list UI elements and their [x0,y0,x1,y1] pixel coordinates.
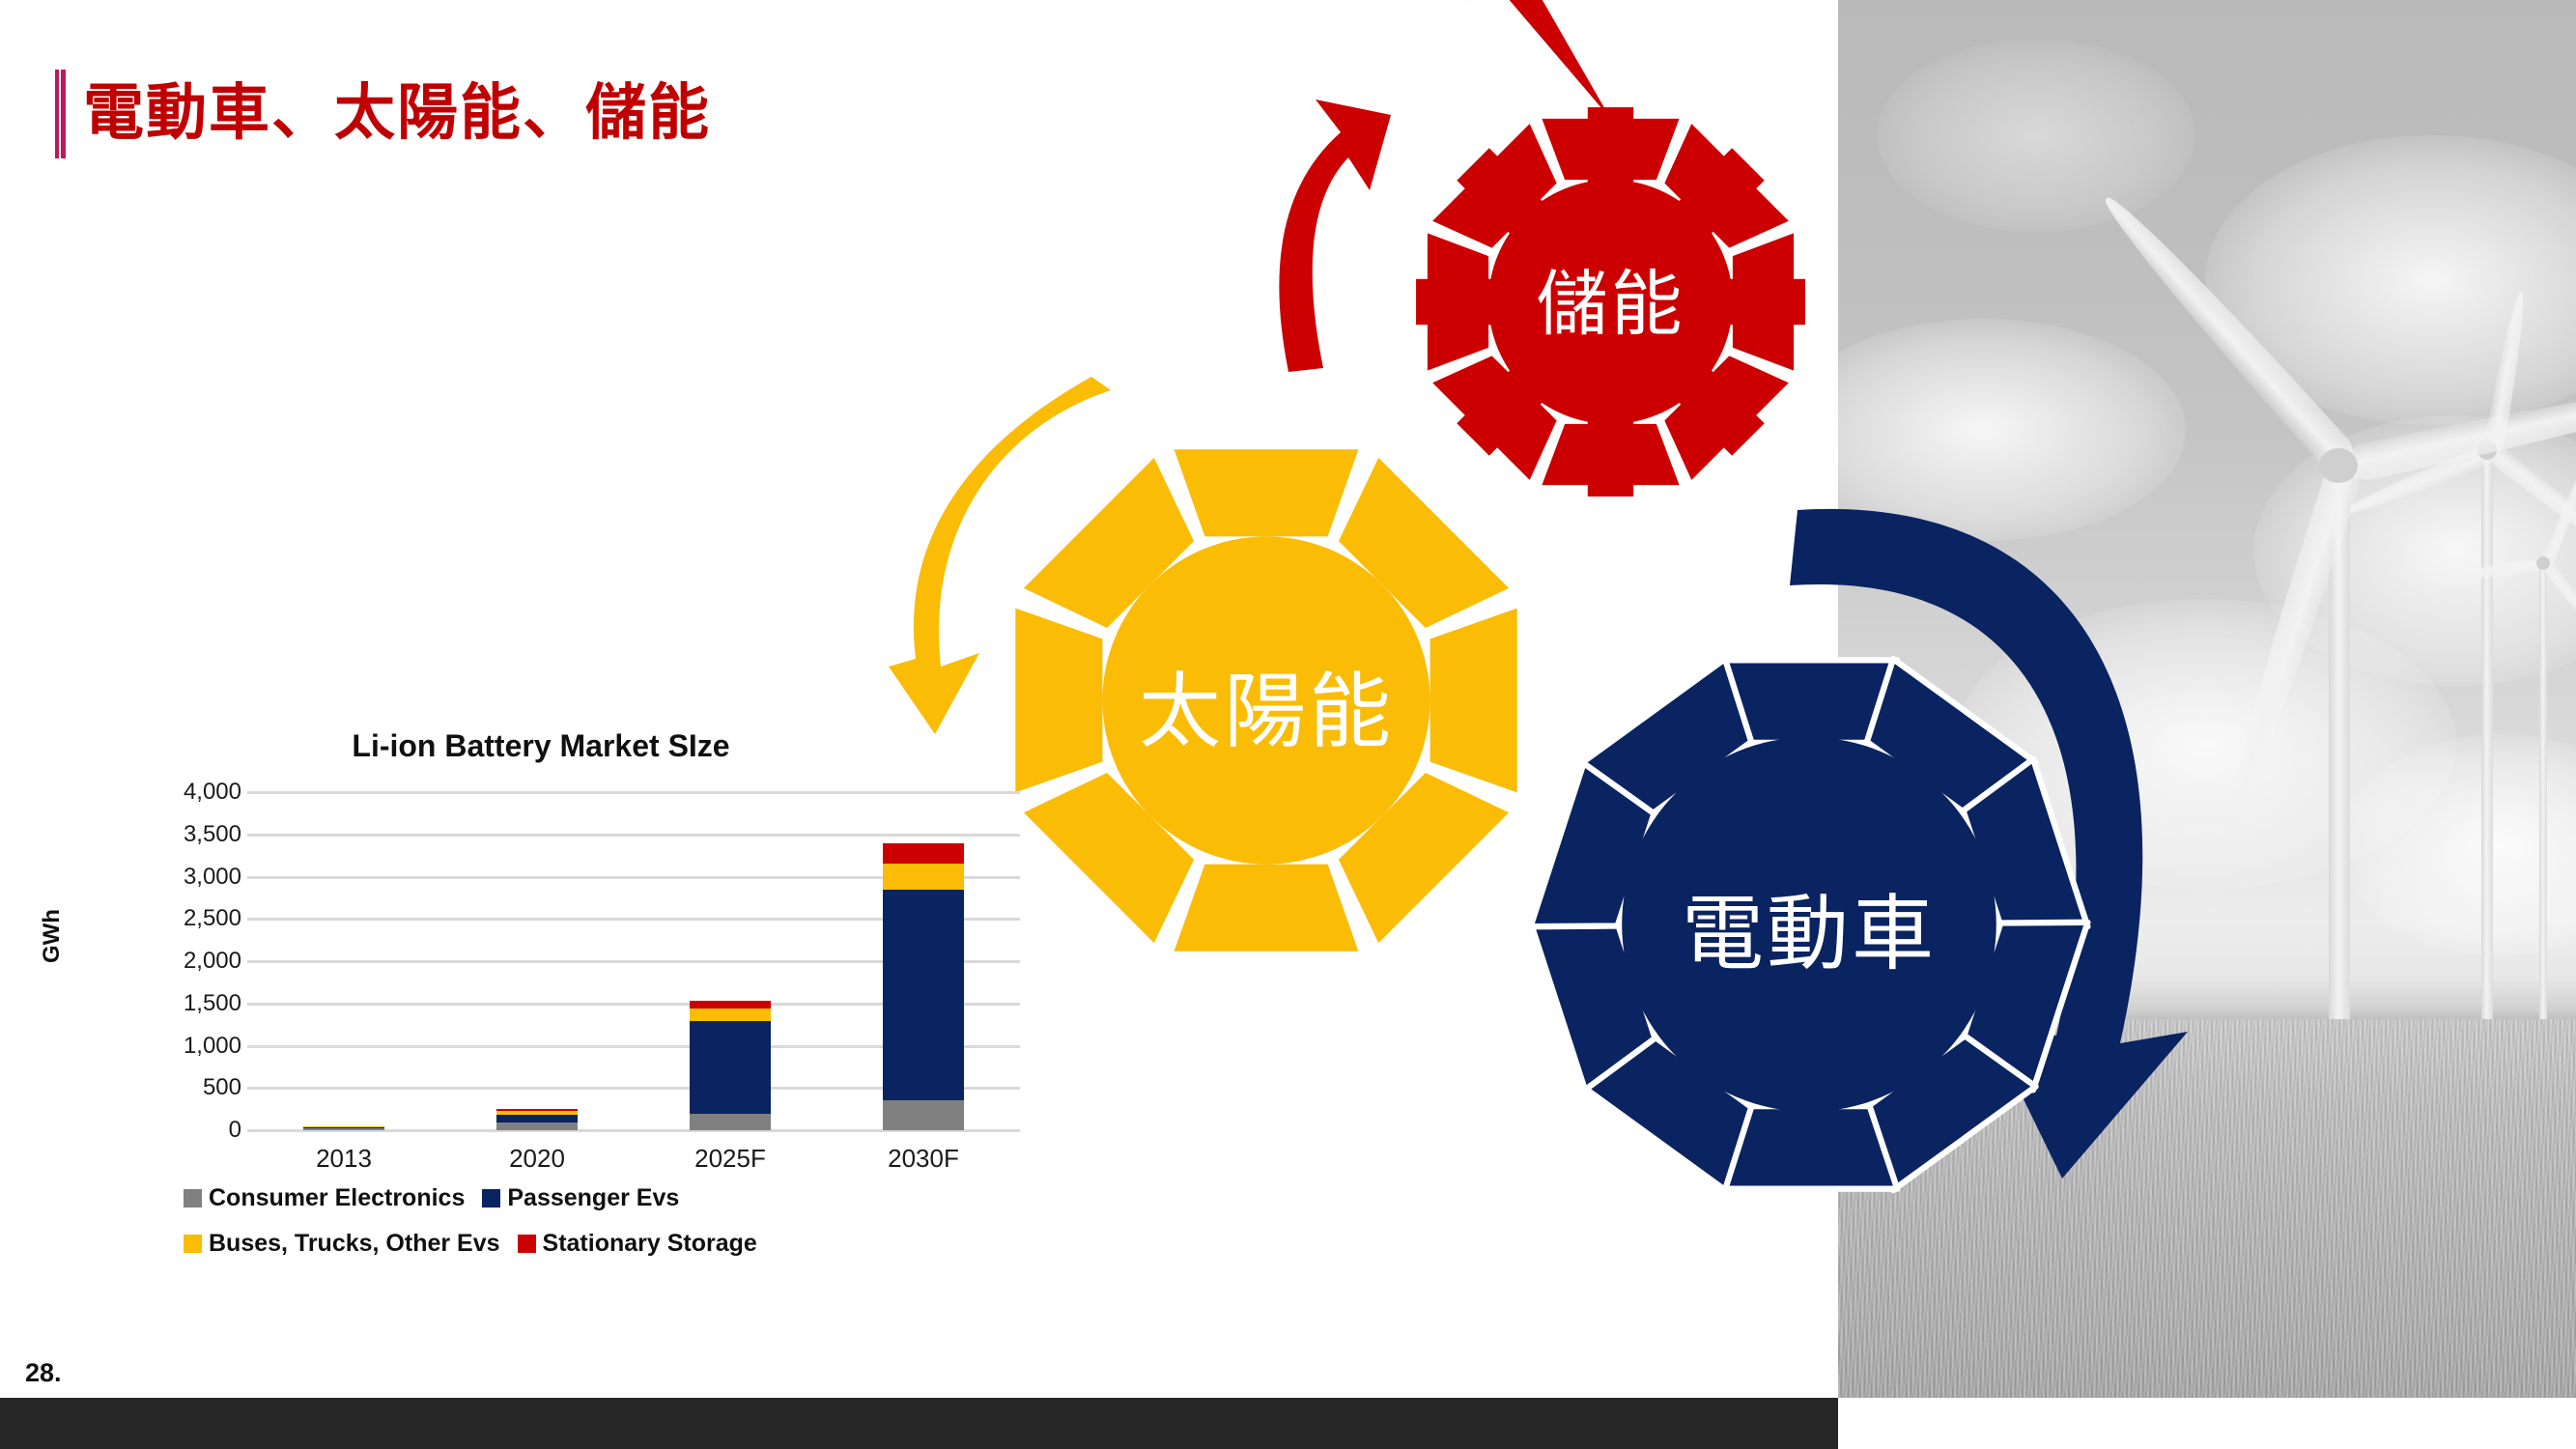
legend-swatch-icon [184,1235,202,1253]
title-accent-bar [55,70,66,158]
chart-legend: Consumer ElectronicsPassenger EvsBuses, … [184,1184,860,1275]
legend-swatch-icon [518,1235,536,1253]
chart-x-tick: 2020 [465,1144,609,1174]
chart-plot-area: 05001,0001,5002,0002,5003,0003,5004,0002… [247,792,1020,1130]
gear-storage[interactable]: 儲能 [1420,111,1801,493]
chart-y-tick: 0 [87,1117,241,1144]
chart-bar-segment [883,864,964,889]
chart-y-tick: 500 [87,1074,241,1101]
legend-swatch-icon [482,1189,500,1207]
page-number: 28. [25,1358,62,1388]
chart-gridline [247,791,1020,794]
chart-bar [303,1126,384,1130]
chart-y-tick: 4,000 [87,779,241,806]
chart-y-axis-label: GWh [39,909,66,963]
chart-x-tick: 2030F [851,1144,996,1174]
chart-legend-row: Buses, Trucks, Other EvsStationary Stora… [184,1230,860,1258]
chart-bar [690,1001,771,1130]
wind-turbine-far [2456,454,2576,1053]
chart-title: Li-ion Battery Market SIze [58,728,1024,764]
chart-legend-item[interactable]: Consumer Electronics [184,1184,465,1212]
chart-y-tick: 2,000 [87,948,241,975]
chart-legend-item[interactable]: Passenger Evs [482,1184,679,1212]
chart-legend-row: Consumer ElectronicsPassenger Evs [184,1184,860,1212]
chart-bar-segment [690,1114,771,1131]
gear-ev[interactable]: 電動車 [1534,649,2084,1200]
chart-bar-segment [496,1115,578,1122]
chart-y-tick: 1,500 [87,990,241,1017]
chart-bar-segment [690,1009,771,1021]
legend-swatch-icon [184,1189,202,1207]
chart-y-tick: 2,500 [87,905,241,932]
chart-bar [883,843,964,1131]
gear-solar[interactable]: 太陽能 [1010,444,1522,956]
footer-bar [0,1398,1838,1449]
chart-bar-segment [883,890,964,1101]
chart-bar-segment [883,1100,964,1130]
chart-legend-label: Passenger Evs [507,1184,679,1212]
chart-legend-item[interactable]: Buses, Trucks, Other Evs [184,1230,500,1258]
chart-legend-item[interactable]: Stationary Storage [518,1230,757,1258]
chart-gridline [247,834,1020,837]
chart-legend-label: Consumer Electronics [209,1184,465,1212]
chart-bar-segment [496,1122,578,1130]
chart-x-tick: 2025F [658,1144,803,1174]
chart-bar-segment [303,1128,384,1130]
chart-bar-segment [883,843,964,865]
chart-legend-label: Stationary Storage [543,1230,757,1258]
chart-legend-label: Buses, Trucks, Other Evs [209,1230,500,1258]
red-arrow-up-icon [1256,82,1391,372]
page-title: 電動車、太陽能、儲能 [83,75,711,152]
chart-bar [496,1109,578,1130]
chart-y-tick: 1,000 [87,1033,241,1060]
chart-x-tick: 2013 [271,1144,416,1174]
chart-y-tick: 3,500 [87,821,241,848]
li-ion-battery-chart: Li-ion Battery Market SIze GWh 05001,000… [58,715,1024,1294]
chart-bar-segment [690,1021,771,1113]
chart-y-tick: 3,000 [87,864,241,891]
chart-bar-segment [690,1001,771,1009]
slide-canvas: 電動車、太陽能、儲能 [0,0,2576,1449]
